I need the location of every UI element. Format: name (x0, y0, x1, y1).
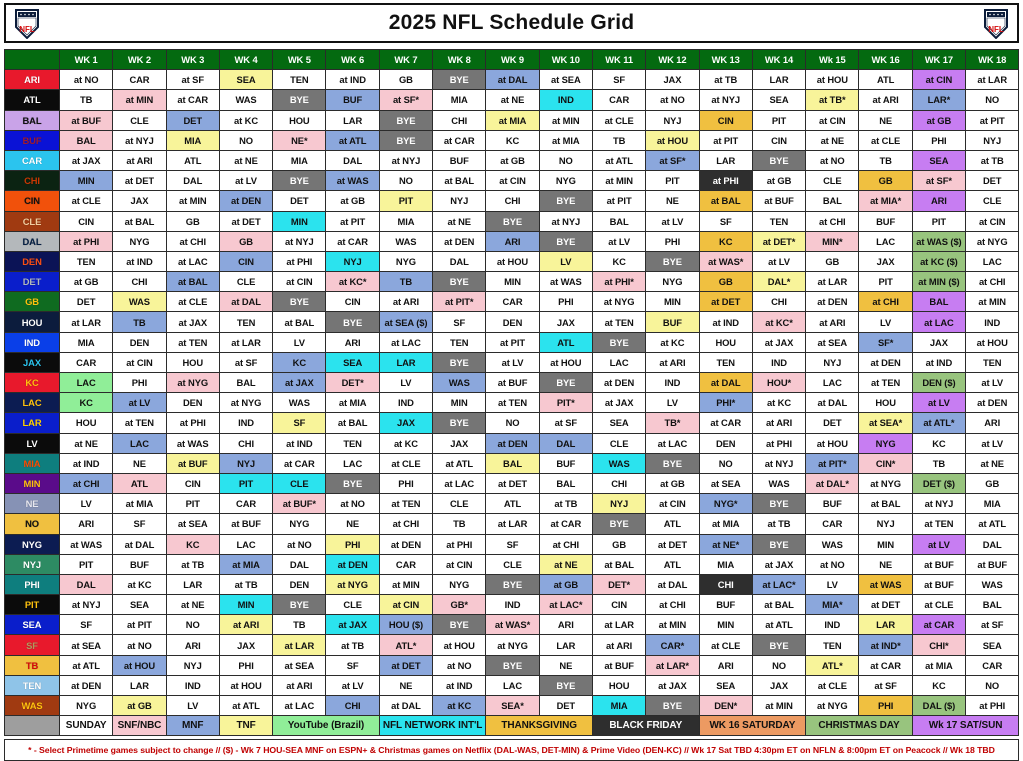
team-label-buf[interactable]: BUF (5, 130, 60, 150)
game-cell[interactable]: at ATL (966, 514, 1019, 534)
team-label-pit[interactable]: PIT (5, 595, 60, 615)
game-cell[interactable]: LAC (113, 433, 166, 453)
game-cell[interactable]: BYE (646, 453, 699, 473)
game-cell[interactable]: at NYG (219, 393, 272, 413)
game-cell[interactable]: CHI (219, 433, 272, 453)
game-cell[interactable]: at ARI (592, 635, 645, 655)
game-cell[interactable]: at JAX (592, 393, 645, 413)
game-cell[interactable]: at CAR (539, 514, 592, 534)
game-cell[interactable]: at DAL* (806, 473, 859, 493)
game-cell[interactable]: at BAL (699, 191, 752, 211)
game-cell[interactable]: at DEN (486, 433, 539, 453)
game-cell[interactable]: JAX (912, 332, 965, 352)
game-cell[interactable]: BYE (592, 514, 645, 534)
game-cell[interactable]: PHI (326, 534, 379, 554)
game-cell[interactable]: MIA (166, 130, 219, 150)
game-cell[interactable]: WAS (592, 453, 645, 473)
game-cell[interactable]: at TEN (379, 494, 432, 514)
game-cell[interactable]: at IND (912, 352, 965, 372)
game-cell[interactable]: at NE (433, 211, 486, 231)
game-cell[interactable]: at DEN (219, 191, 272, 211)
game-cell[interactable]: at ATL (752, 615, 805, 635)
game-cell[interactable]: SF (60, 615, 113, 635)
game-cell[interactable]: at DAL (379, 696, 432, 716)
game-cell[interactable]: HOU ($) (379, 615, 432, 635)
game-cell[interactable]: LAC (60, 373, 113, 393)
game-cell[interactable]: at GB (539, 574, 592, 594)
team-label-cin[interactable]: CIN (5, 191, 60, 211)
game-cell[interactable]: at NYG (486, 635, 539, 655)
game-cell[interactable]: BYE (273, 171, 326, 191)
game-cell[interactable]: at BAL (752, 595, 805, 615)
game-cell[interactable]: at TB (966, 150, 1019, 170)
game-cell[interactable]: HOU (592, 675, 645, 695)
game-cell[interactable]: at PHI (166, 413, 219, 433)
game-cell[interactable]: DAL (60, 574, 113, 594)
game-cell[interactable]: at NE (166, 595, 219, 615)
game-cell[interactable]: IND (219, 413, 272, 433)
game-cell[interactable]: HOU* (752, 373, 805, 393)
game-cell[interactable]: at MIN (379, 574, 432, 594)
game-cell[interactable]: CIN (592, 595, 645, 615)
game-cell[interactable]: CHI (752, 292, 805, 312)
game-cell[interactable]: PIT (166, 494, 219, 514)
game-cell[interactable]: CHI (592, 473, 645, 493)
game-cell[interactable]: at ATL (433, 453, 486, 473)
game-cell[interactable]: at CAR (912, 615, 965, 635)
game-cell[interactable]: DET (539, 696, 592, 716)
game-cell[interactable]: at NYJ (912, 494, 965, 514)
game-cell[interactable]: at KC* (752, 312, 805, 332)
game-cell[interactable]: at PIT* (806, 453, 859, 473)
game-cell[interactable]: at CAR (859, 655, 912, 675)
team-label-gb[interactable]: GB (5, 292, 60, 312)
game-cell[interactable]: at NYJ (273, 231, 326, 251)
game-cell[interactable]: WAS (806, 534, 859, 554)
game-cell[interactable]: SEA* (486, 696, 539, 716)
game-cell[interactable]: at DEN (326, 554, 379, 574)
game-cell[interactable]: NE (859, 110, 912, 130)
game-cell[interactable]: at CLE (166, 292, 219, 312)
game-cell[interactable]: CLE (806, 171, 859, 191)
game-cell[interactable]: GB (966, 473, 1019, 493)
game-cell[interactable]: MIN (60, 171, 113, 191)
game-cell[interactable]: ATL (539, 332, 592, 352)
game-cell[interactable]: at LV (966, 433, 1019, 453)
game-cell[interactable]: MIA (966, 494, 1019, 514)
game-cell[interactable]: JAX (433, 433, 486, 453)
game-cell[interactable]: LAR (326, 110, 379, 130)
game-cell[interactable]: at DEN (966, 393, 1019, 413)
team-label-jax[interactable]: JAX (5, 352, 60, 372)
game-cell[interactable]: JAX (219, 635, 272, 655)
game-cell[interactable]: LAR (113, 675, 166, 695)
game-cell[interactable]: PIT (752, 110, 805, 130)
game-cell[interactable]: DEN* (699, 696, 752, 716)
game-cell[interactable]: PHI (113, 373, 166, 393)
game-cell[interactable]: at LAC (646, 433, 699, 453)
game-cell[interactable]: at LAC (912, 312, 965, 332)
game-cell[interactable]: at SEA (273, 655, 326, 675)
game-cell[interactable]: MIN (646, 292, 699, 312)
game-cell[interactable]: DET (60, 292, 113, 312)
game-cell[interactable]: BYE (433, 272, 486, 292)
team-label-sea[interactable]: SEA (5, 615, 60, 635)
game-cell[interactable]: at DAL (219, 292, 272, 312)
game-cell[interactable]: BYE (646, 251, 699, 271)
game-cell[interactable]: MIN (433, 393, 486, 413)
game-cell[interactable]: DEN ($) (912, 373, 965, 393)
game-cell[interactable]: at LAC* (539, 595, 592, 615)
game-cell[interactable]: MIA* (806, 595, 859, 615)
game-cell[interactable]: NYG (379, 251, 432, 271)
game-cell[interactable]: at KC (219, 110, 272, 130)
game-cell[interactable]: GB* (433, 595, 486, 615)
game-cell[interactable]: at MIA (699, 514, 752, 534)
team-label-no[interactable]: NO (5, 514, 60, 534)
game-cell[interactable]: LAR* (912, 90, 965, 110)
team-label-den[interactable]: DEN (5, 251, 60, 271)
game-cell[interactable]: at HOU (113, 655, 166, 675)
game-cell[interactable]: at SF* (646, 150, 699, 170)
game-cell[interactable]: at IND (113, 251, 166, 271)
game-cell[interactable]: at BUF (592, 655, 645, 675)
game-cell[interactable]: at KC* (326, 272, 379, 292)
game-cell[interactable]: at LV (752, 251, 805, 271)
game-cell[interactable]: NYJ (966, 130, 1019, 150)
game-cell[interactable]: at MIN (539, 110, 592, 130)
game-cell[interactable]: at MIA* (859, 191, 912, 211)
game-cell[interactable]: at TEN (859, 373, 912, 393)
team-label-lv[interactable]: LV (5, 433, 60, 453)
game-cell[interactable]: at BUF (486, 373, 539, 393)
game-cell[interactable]: at DAL (699, 373, 752, 393)
game-cell[interactable]: BYE (273, 90, 326, 110)
game-cell[interactable]: LV (859, 312, 912, 332)
game-cell[interactable]: NYJ (219, 453, 272, 473)
game-cell[interactable]: IND (646, 373, 699, 393)
game-cell[interactable]: PHI (646, 231, 699, 251)
game-cell[interactable]: at BUF (752, 191, 805, 211)
game-cell[interactable]: at CHI (966, 272, 1019, 292)
game-cell[interactable]: BYE (433, 615, 486, 635)
game-cell[interactable]: CHI (326, 696, 379, 716)
game-cell[interactable]: at HOU (806, 70, 859, 90)
game-cell[interactable]: PHI (219, 655, 272, 675)
team-label-cle[interactable]: CLE (5, 211, 60, 231)
game-cell[interactable]: LAR (859, 615, 912, 635)
game-cell[interactable]: at SEA (699, 473, 752, 493)
game-cell[interactable]: SF (433, 312, 486, 332)
game-cell[interactable]: ARI (166, 635, 219, 655)
game-cell[interactable]: NE (113, 453, 166, 473)
game-cell[interactable]: KC (60, 393, 113, 413)
game-cell[interactable]: at LAC (166, 251, 219, 271)
game-cell[interactable]: at MIA (219, 554, 272, 574)
game-cell[interactable]: NE (379, 675, 432, 695)
game-cell[interactable]: at NYJ (113, 130, 166, 150)
team-label-dal[interactable]: DAL (5, 231, 60, 251)
game-cell[interactable]: at GB (646, 473, 699, 493)
game-cell[interactable]: at MIN (966, 292, 1019, 312)
game-cell[interactable]: MIA (433, 90, 486, 110)
game-cell[interactable]: ATL (859, 70, 912, 90)
game-cell[interactable]: CAR (806, 514, 859, 534)
game-cell[interactable]: at DET (379, 655, 432, 675)
team-label-det[interactable]: DET (5, 272, 60, 292)
team-label-chi[interactable]: CHI (5, 171, 60, 191)
game-cell[interactable]: TB (859, 150, 912, 170)
game-cell[interactable]: DAL (326, 150, 379, 170)
game-cell[interactable]: NO (486, 413, 539, 433)
team-label-ne[interactable]: NE (5, 494, 60, 514)
game-cell[interactable]: DAL* (752, 272, 805, 292)
game-cell[interactable]: at TB (752, 514, 805, 534)
game-cell[interactable]: MIN* (806, 231, 859, 251)
game-cell[interactable]: at CLE (912, 595, 965, 615)
game-cell[interactable]: at MIN (752, 696, 805, 716)
game-cell[interactable]: NYG (60, 696, 113, 716)
game-cell[interactable]: at CIN (486, 171, 539, 191)
game-cell[interactable]: at SF (859, 675, 912, 695)
game-cell[interactable]: CAR (113, 70, 166, 90)
game-cell[interactable]: CAR (219, 494, 272, 514)
game-cell[interactable]: CLE (433, 494, 486, 514)
game-cell[interactable]: NO (966, 675, 1019, 695)
game-cell[interactable]: at ARI (806, 312, 859, 332)
game-cell[interactable]: PIT (60, 554, 113, 574)
game-cell[interactable]: at WAS ($) (912, 231, 965, 251)
team-label-hou[interactable]: HOU (5, 312, 60, 332)
game-cell[interactable]: at CLE (859, 130, 912, 150)
game-cell[interactable]: at ATL (60, 655, 113, 675)
game-cell[interactable]: at DET (486, 473, 539, 493)
game-cell[interactable]: at LV (912, 534, 965, 554)
game-cell[interactable]: MIN (486, 272, 539, 292)
game-cell[interactable]: BAL (806, 191, 859, 211)
game-cell[interactable]: SF (592, 70, 645, 90)
game-cell[interactable]: GB (166, 211, 219, 231)
team-label-kc[interactable]: KC (5, 373, 60, 393)
game-cell[interactable]: SEA (966, 635, 1019, 655)
game-cell[interactable]: at LAR (273, 635, 326, 655)
game-cell[interactable]: WAS (966, 574, 1019, 594)
game-cell[interactable]: CHI (699, 574, 752, 594)
game-cell[interactable]: at DEN (806, 292, 859, 312)
game-cell[interactable]: at CIN (646, 494, 699, 514)
game-cell[interactable]: PHI* (699, 393, 752, 413)
game-cell[interactable]: at CLE (592, 110, 645, 130)
game-cell[interactable]: at BUF (966, 554, 1019, 574)
game-cell[interactable]: at HOU (486, 251, 539, 271)
game-cell[interactable]: DEN (486, 312, 539, 332)
game-cell[interactable]: BYE (752, 494, 805, 514)
game-cell[interactable]: BYE (752, 635, 805, 655)
game-cell[interactable]: at WAS (60, 534, 113, 554)
game-cell[interactable]: LV (166, 696, 219, 716)
game-cell[interactable]: BAL (486, 453, 539, 473)
game-cell[interactable]: GB (699, 272, 752, 292)
game-cell[interactable]: IND (166, 675, 219, 695)
game-cell[interactable]: MIN (273, 211, 326, 231)
game-cell[interactable]: at CIN (113, 352, 166, 372)
game-cell[interactable]: KC (166, 534, 219, 554)
game-cell[interactable]: at NYJ (699, 90, 752, 110)
game-cell[interactable]: TEN (326, 433, 379, 453)
game-cell[interactable]: ARI (966, 413, 1019, 433)
game-cell[interactable]: at GB (326, 191, 379, 211)
team-label-ind[interactable]: IND (5, 332, 60, 352)
game-cell[interactable]: at HOU (539, 352, 592, 372)
game-cell[interactable]: NYJ (806, 352, 859, 372)
game-cell[interactable]: NYG (646, 272, 699, 292)
game-cell[interactable]: at MIA (539, 130, 592, 150)
game-cell[interactable]: at JAX (166, 312, 219, 332)
game-cell[interactable]: BUF (326, 90, 379, 110)
game-cell[interactable]: at NYJ (539, 211, 592, 231)
game-cell[interactable]: at GB (486, 150, 539, 170)
game-cell[interactable]: at DEN (592, 373, 645, 393)
game-cell[interactable]: HOU (859, 393, 912, 413)
game-cell[interactable]: at IND (699, 312, 752, 332)
game-cell[interactable]: at CAR (699, 413, 752, 433)
game-cell[interactable]: at HOU (966, 332, 1019, 352)
game-cell[interactable]: at LV (646, 211, 699, 231)
game-cell[interactable]: CLE (486, 554, 539, 574)
game-cell[interactable]: at TEN (592, 312, 645, 332)
game-cell[interactable]: KC (912, 433, 965, 453)
game-cell[interactable]: at DET (699, 292, 752, 312)
team-label-phi[interactable]: PHI (5, 574, 60, 594)
game-cell[interactable]: at SEA* (859, 413, 912, 433)
game-cell[interactable]: SF (486, 534, 539, 554)
game-cell[interactable]: at LV (966, 373, 1019, 393)
game-cell[interactable]: at NYJ (752, 453, 805, 473)
game-cell[interactable]: SEA (326, 352, 379, 372)
game-cell[interactable]: at CHI (539, 534, 592, 554)
game-cell[interactable]: at SEA (60, 635, 113, 655)
game-cell[interactable]: at NYJ (60, 595, 113, 615)
game-cell[interactable]: DEN (166, 393, 219, 413)
game-cell[interactable]: at NE (60, 433, 113, 453)
game-cell[interactable]: at PHI (60, 231, 113, 251)
game-cell[interactable]: JAX (379, 413, 432, 433)
game-cell[interactable]: at WAS (859, 574, 912, 594)
game-cell[interactable]: ARI (912, 191, 965, 211)
game-cell[interactable]: NYJ (433, 191, 486, 211)
game-cell[interactable]: LAR (699, 150, 752, 170)
game-cell[interactable]: at NE (806, 130, 859, 150)
game-cell[interactable]: at DAL (486, 70, 539, 90)
game-cell[interactable]: CIN* (859, 453, 912, 473)
game-cell[interactable]: SEA (592, 413, 645, 433)
game-cell[interactable]: at SF* (379, 90, 432, 110)
game-cell[interactable]: at ARI (219, 615, 272, 635)
game-cell[interactable]: SEA (752, 90, 805, 110)
game-cell[interactable]: DET (806, 413, 859, 433)
game-cell[interactable]: JAX (539, 312, 592, 332)
game-cell[interactable]: at NO (806, 150, 859, 170)
game-cell[interactable]: BYE (273, 292, 326, 312)
game-cell[interactable]: KC (699, 231, 752, 251)
game-cell[interactable]: at KC (379, 433, 432, 453)
game-cell[interactable]: at TEN (486, 393, 539, 413)
game-cell[interactable]: at NYG (859, 473, 912, 493)
game-cell[interactable]: at BUF (219, 514, 272, 534)
game-cell[interactable]: CLE (326, 595, 379, 615)
game-cell[interactable]: at CIN (912, 70, 965, 90)
game-cell[interactable]: at NYG (166, 373, 219, 393)
game-cell[interactable]: at CHI (806, 211, 859, 231)
game-cell[interactable]: BAL (219, 373, 272, 393)
game-cell[interactable]: KC (912, 675, 965, 695)
game-cell[interactable]: NO (699, 453, 752, 473)
game-cell[interactable]: at LV (219, 171, 272, 191)
game-cell[interactable]: at HOU (646, 130, 699, 150)
game-cell[interactable]: at TB (326, 635, 379, 655)
game-cell[interactable]: GB (592, 534, 645, 554)
game-cell[interactable]: BYE (539, 675, 592, 695)
game-cell[interactable]: at NYG (806, 696, 859, 716)
game-cell[interactable]: at BAL (433, 171, 486, 191)
game-cell[interactable]: CAR (379, 554, 432, 574)
game-cell[interactable]: at ARI (859, 90, 912, 110)
game-cell[interactable]: LV (539, 251, 592, 271)
game-cell[interactable]: at ATL* (912, 413, 965, 433)
game-cell[interactable]: at CIN (966, 211, 1019, 231)
game-cell[interactable]: LAR (166, 574, 219, 594)
game-cell[interactable]: at WAS (166, 433, 219, 453)
game-cell[interactable]: KC (486, 130, 539, 150)
game-cell[interactable]: GB (859, 171, 912, 191)
game-cell[interactable]: BAL (912, 292, 965, 312)
game-cell[interactable]: LAR (752, 70, 805, 90)
game-cell[interactable]: NE (539, 655, 592, 675)
game-cell[interactable]: at BAL (326, 413, 379, 433)
game-cell[interactable]: CIN (166, 473, 219, 493)
game-cell[interactable]: at MIN (592, 171, 645, 191)
game-cell[interactable]: at CAR (273, 453, 326, 473)
game-cell[interactable]: at LV (912, 393, 965, 413)
game-cell[interactable]: BUF (806, 494, 859, 514)
game-cell[interactable]: at SEA ($) (379, 312, 432, 332)
game-cell[interactable]: BYE (433, 70, 486, 90)
game-cell[interactable]: CIN (326, 292, 379, 312)
team-label-car[interactable]: CAR (5, 150, 60, 170)
game-cell[interactable]: NYG (859, 433, 912, 453)
game-cell[interactable]: CAR (592, 90, 645, 110)
game-cell[interactable]: at JAX (752, 554, 805, 574)
game-cell[interactable]: BUF (433, 150, 486, 170)
game-cell[interactable]: at NE (539, 554, 592, 574)
game-cell[interactable]: at LAR (966, 70, 1019, 90)
game-cell[interactable]: BYE (433, 352, 486, 372)
game-cell[interactable]: DET (273, 191, 326, 211)
game-cell[interactable]: CIN (699, 110, 752, 130)
game-cell[interactable]: ATL (113, 473, 166, 493)
game-cell[interactable]: MIN (219, 595, 272, 615)
game-cell[interactable]: at DEN (433, 231, 486, 251)
game-cell[interactable]: SEA (219, 70, 272, 90)
game-cell[interactable]: ATL (166, 150, 219, 170)
game-cell[interactable]: MIA (60, 332, 113, 352)
game-cell[interactable]: at LAR (60, 312, 113, 332)
game-cell[interactable]: BYE (486, 574, 539, 594)
game-cell[interactable]: at NO (273, 534, 326, 554)
game-cell[interactable]: at WAS (539, 272, 592, 292)
game-cell[interactable]: at IND (326, 70, 379, 90)
game-cell[interactable]: NE (859, 554, 912, 574)
